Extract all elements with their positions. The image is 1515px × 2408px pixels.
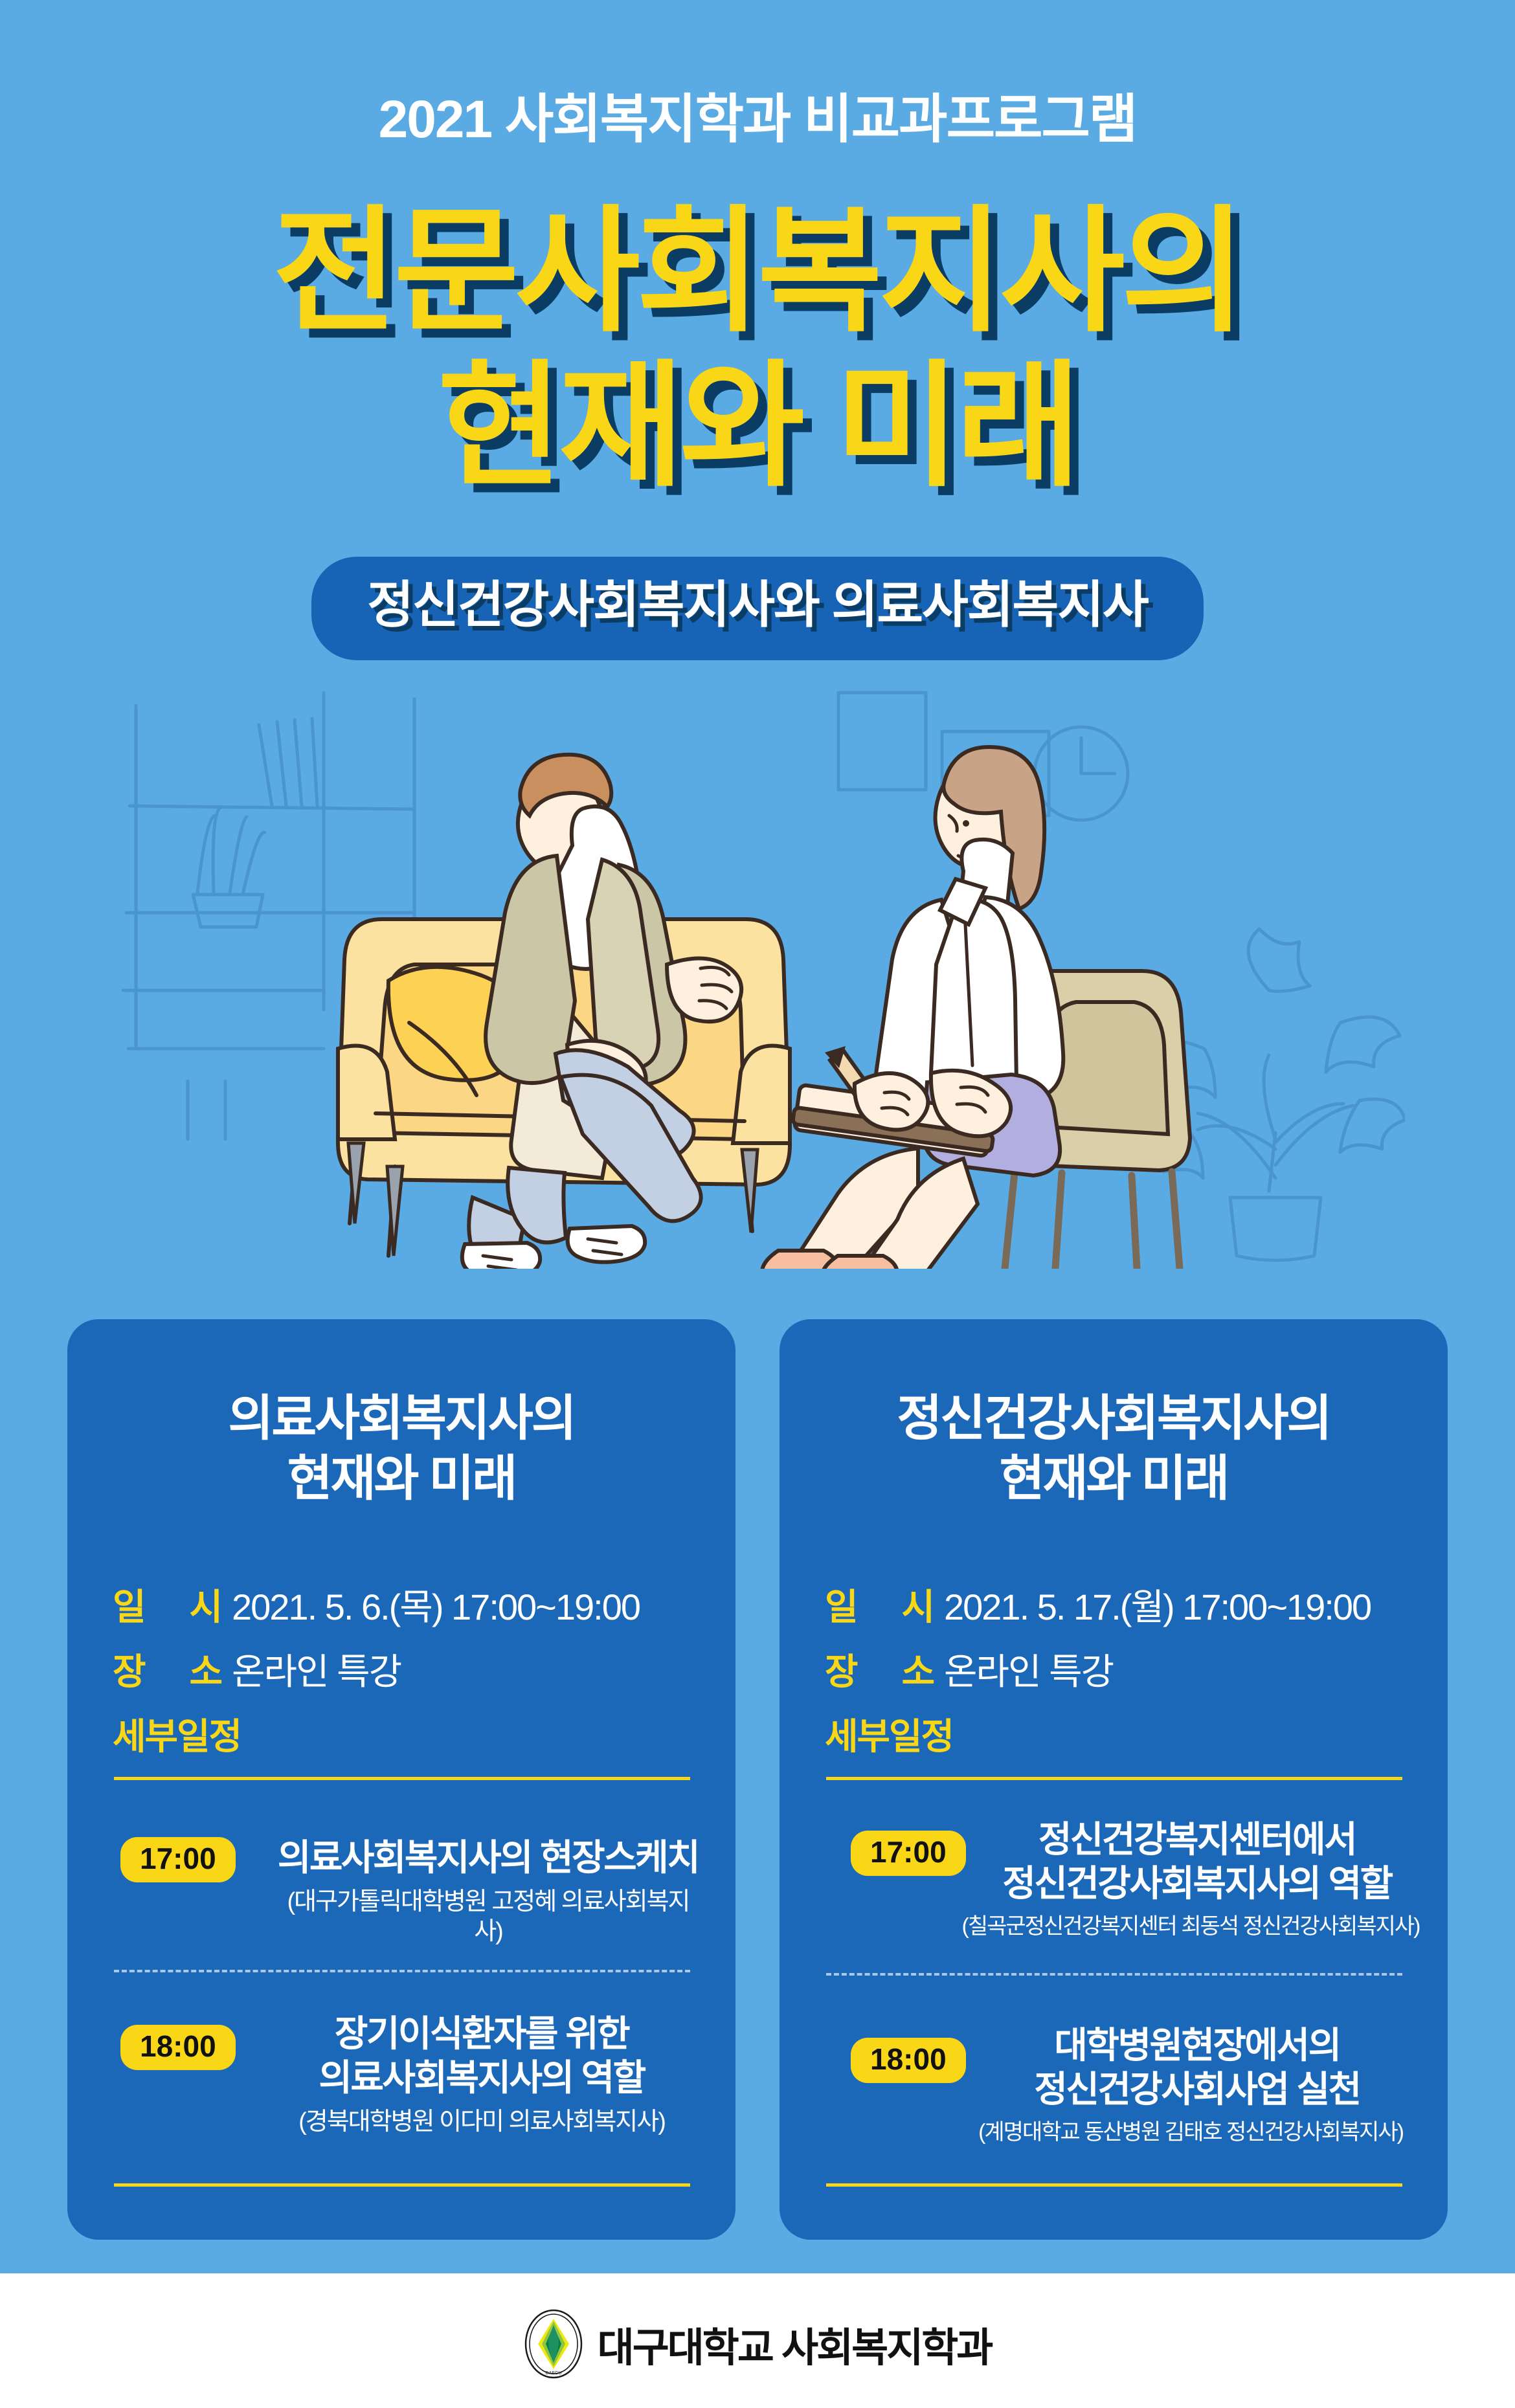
session-title-line: 의료사회복지사의 역할 (262, 2056, 702, 2100)
meta-datetime: 일 시 2021. 5. 6.(목) 17:00~19:00 (113, 1578, 695, 1631)
meta-location: 장 소 온라인 특강 (113, 1643, 695, 1695)
daegu-university-crest-icon: DAEGU (524, 2308, 583, 2380)
schedule-label: 세부일정 (825, 1708, 953, 1760)
session-title-line: 정신건강복지센터에서 (974, 1818, 1420, 1862)
card-title-line1: 정신건강사회복지사의 (780, 1389, 1448, 1449)
program-cards: 의료사회복지사의 현재와 미래 일 시 2021. 5. 6.(목) 17:00… (0, 1319, 1515, 2271)
card-title-line2: 현재와 미래 (780, 1449, 1448, 1510)
poster-root: 2021 사회복지학과 비교과프로그램 전문사회복지사의 현재와 미래 정신건강… (0, 0, 1515, 2408)
program-card-medical[interactable]: 의료사회복지사의 현재와 미래 일 시 2021. 5. 6.(목) 17:00… (67, 1319, 735, 2240)
meta-label-char-b: 소 (189, 1643, 221, 1695)
session-title-line: 장기이식환자를 위한 (262, 2012, 702, 2056)
meta-datetime-label: 일 시 (825, 1578, 934, 1631)
card-title-line2: 현재와 미래 (67, 1449, 735, 1510)
schedule-top-rule (114, 1777, 690, 1780)
meta-label-char-a: 장 (113, 1643, 145, 1695)
session-time-badge: 18:00 (851, 2038, 966, 2083)
meta-label-char-b: 소 (901, 1643, 934, 1695)
session-title-line: 의료사회복지사의 현장스케치 (275, 1836, 702, 1880)
page-title-line1: 전문사회복지사의 (0, 194, 1515, 349)
meta-location: 장 소 온라인 특강 (825, 1643, 1408, 1695)
meta-datetime-label: 일 시 (113, 1578, 221, 1631)
schedule-bottom-rule (114, 2183, 690, 2187)
session-divider (114, 1970, 690, 1972)
card-title: 의료사회복지사의 현재와 미래 (67, 1389, 735, 1509)
seated-man-figure (462, 755, 741, 1269)
session-title: 정신건강복지센터에서 정신건강사회복지사의 역할 (974, 1818, 1420, 1906)
session-title: 의료사회복지사의 현장스케치 (275, 1836, 702, 1880)
session-title: 대학병원현장에서의 정신건강사회사업 실천 (974, 2023, 1420, 2112)
meta-label-char-b: 시 (189, 1578, 221, 1631)
session-speaker: (계명대학교 동산병원 김태호 정신건강사회복지사) (961, 2119, 1420, 2146)
session-speaker: (대구가톨릭대학병원 고정혜 의료사회복지사) (275, 1888, 702, 1946)
subtitle-pill: 정신건강사회복지사와 의료사회복지사 (311, 557, 1204, 660)
meta-label-char-a: 장 (825, 1643, 857, 1695)
card-title-line1: 의료사회복지사의 (67, 1389, 735, 1449)
session-time-badge: 17:00 (120, 1837, 236, 1882)
session-speaker: (경북대학병원 이다미 의료사회복지사) (262, 2108, 702, 2137)
session-speaker: (칠곡군정신건강복지센터 최동석 정신건강사회복지사) (961, 1913, 1420, 1940)
schedule-bottom-rule (826, 2183, 1402, 2187)
meta-location-value: 온라인 특강 (944, 1643, 1113, 1695)
meta-location-label: 장 소 (825, 1643, 934, 1695)
subtitle-banner: 정신건강사회복지사와 의료사회복지사 (0, 557, 1515, 660)
page-title: 전문사회복지사의 현재와 미래 (0, 194, 1515, 504)
schedule-label: 세부일정 (113, 1708, 241, 1760)
footer: DAEGU 대구대학교 사회복지학과 (0, 2308, 1515, 2380)
session-title-line: 정신건강사회사업 실천 (974, 2068, 1420, 2112)
counseling-session-illustration: .bgln{fill:none;stroke:#4a95cf;stroke-wi… (110, 686, 1405, 1269)
page-title-line2: 현재와 미래 (0, 349, 1515, 504)
meta-location-label: 장 소 (113, 1643, 221, 1695)
session-title-line: 대학병원현장에서의 (974, 2023, 1420, 2068)
session-time-badge: 18:00 (120, 2025, 236, 2070)
meta-datetime-value: 2021. 5. 17.(월) 17:00~19:00 (944, 1578, 1371, 1631)
meta-datetime-value: 2021. 5. 6.(목) 17:00~19:00 (232, 1578, 640, 1631)
card-title: 정신건강사회복지사의 현재와 미래 (780, 1389, 1448, 1509)
kicker-text: 2021 사회복지학과 비교과프로그램 (0, 91, 1515, 149)
schedule-top-rule (826, 1777, 1402, 1780)
meta-label-char-b: 시 (901, 1578, 934, 1631)
program-card-mental-health[interactable]: 정신건강사회복지사의 현재와 미래 일 시 2021. 5. 17.(월) 17… (780, 1319, 1448, 2240)
subtitle-text: 정신건강사회복지사와 의료사회복지사 (367, 564, 1148, 637)
footer-text: 대구대학교 사회복지학과 (598, 2315, 992, 2373)
session-title: 장기이식환자를 위한 의료사회복지사의 역할 (262, 2012, 702, 2101)
meta-label-char-a: 일 (825, 1578, 857, 1631)
session-title-line: 정신건강사회복지사의 역할 (974, 1862, 1420, 1906)
meta-location-value: 온라인 특강 (232, 1643, 401, 1695)
session-divider (826, 1973, 1402, 1976)
meta-datetime: 일 시 2021. 5. 17.(월) 17:00~19:00 (825, 1578, 1408, 1631)
svg-text:DAEGU: DAEGU (545, 2371, 561, 2376)
session-time-badge: 17:00 (851, 1831, 966, 1876)
meta-label-char-a: 일 (113, 1578, 145, 1631)
counselor-figure (762, 747, 1063, 1269)
